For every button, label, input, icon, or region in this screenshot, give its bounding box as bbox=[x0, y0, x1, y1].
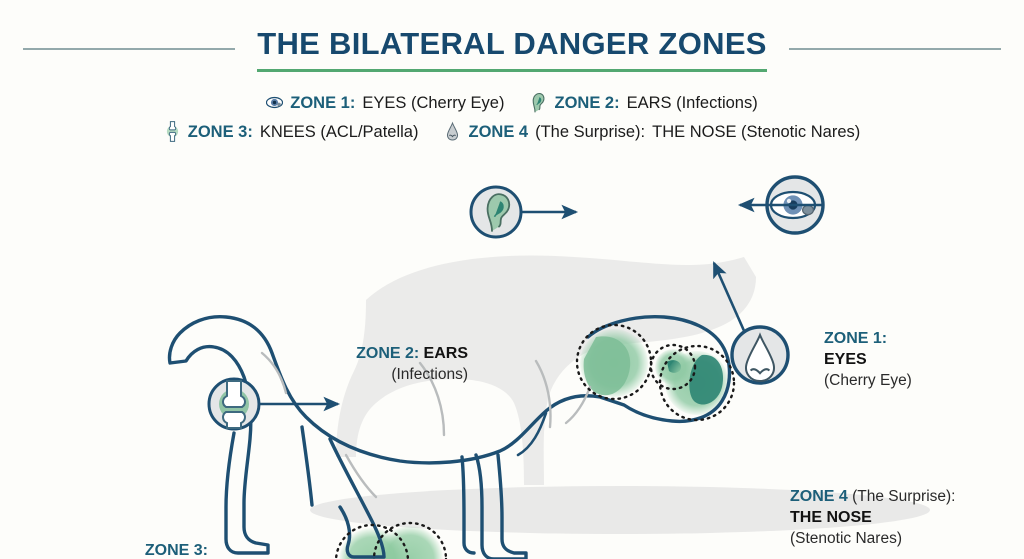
legend-row-1: ZONE 1: EYES (Cherry Eye) ZONE 2: EARS (… bbox=[0, 88, 1024, 117]
callout-ears: ZONE 2: EARS (Infections) bbox=[328, 343, 468, 385]
legend-text-4: THE NOSE (Stenotic Nares) bbox=[652, 122, 860, 142]
legend-zone-label-1: ZONE 1: bbox=[290, 93, 355, 113]
nose-icon bbox=[444, 121, 461, 142]
legend-item-zone-4: ZONE 4 (The Surprise): THE NOSE (Stenoti… bbox=[444, 121, 860, 142]
legend-text-3: KNEES (ACL/Patella) bbox=[260, 122, 419, 142]
ear-icon-badge bbox=[471, 187, 521, 237]
callout-eyes-term: EYES bbox=[824, 349, 1014, 370]
callout-nose-sub: (Stenotic Nares) bbox=[790, 528, 1020, 549]
knee-joint-icon bbox=[164, 121, 181, 142]
legend-zone-label-4: ZONE 4 bbox=[468, 122, 528, 142]
ear-icon bbox=[530, 92, 547, 113]
title-row: THE BILATERAL DANGER ZONES bbox=[0, 26, 1024, 72]
callout-eyes-sub: (Cherry Eye) bbox=[824, 370, 1014, 391]
callout-ears-sub: (Infections) bbox=[328, 364, 468, 385]
title-rule-right bbox=[789, 48, 1001, 50]
legend-item-zone-3: ZONE 3: KNEES (ACL/Patella) bbox=[164, 121, 419, 142]
header: THE BILATERAL DANGER ZONES ZON bbox=[0, 0, 1024, 158]
legend-item-zone-2: ZONE 2: EARS (Infections) bbox=[530, 92, 757, 113]
page-title: THE BILATERAL DANGER ZONES bbox=[257, 26, 767, 62]
legend-row-2: ZONE 3: KNEES (ACL/Patella) ZONE 4 (The … bbox=[0, 117, 1024, 146]
callout-nose: ZONE 4 (The Surprise): THE NOSE (Stenoti… bbox=[790, 486, 1020, 549]
infographic-root: THE BILATERAL DANGER ZONES ZON bbox=[0, 0, 1024, 559]
callout-nose-term: THE NOSE bbox=[790, 507, 1020, 528]
legend-text-4-bold: (The Surprise): bbox=[535, 122, 645, 142]
callout-eyes: ZONE 1: EYES (Cherry Eye) bbox=[824, 328, 1014, 391]
dog-hind-leg-far bbox=[302, 427, 312, 505]
knee-joint-icon-badge bbox=[209, 379, 259, 429]
callout-eyes-zone: ZONE 1: bbox=[824, 328, 1014, 349]
title-wrap: THE BILATERAL DANGER ZONES bbox=[257, 26, 767, 72]
callout-knees-zone: ZONE 3: bbox=[58, 540, 208, 559]
title-underline bbox=[257, 69, 767, 72]
nose-icon-badge bbox=[732, 327, 788, 383]
legend: ZONE 1: EYES (Cherry Eye) ZONE 2: EARS (… bbox=[0, 88, 1024, 146]
legend-zone-label-2: ZONE 2: bbox=[554, 93, 619, 113]
callout-nose-paren: (The Surprise): bbox=[852, 488, 955, 505]
legend-item-zone-1: ZONE 1: EYES (Cherry Eye) bbox=[266, 92, 504, 113]
callout-ears-term: EARS bbox=[424, 345, 468, 362]
callout-ears-zone: ZONE 2: bbox=[356, 345, 419, 362]
eye-icon bbox=[266, 92, 283, 113]
illustration-stage: ZONE 2: EARS (Infections) ZONE 1: EYES (… bbox=[0, 155, 1024, 559]
legend-text-2: EARS (Infections) bbox=[627, 93, 758, 113]
callout-knees: ZONE 3: KNEES (ACL/Patella) bbox=[58, 540, 208, 559]
legend-zone-label-3: ZONE 3: bbox=[188, 122, 253, 142]
callout-nose-zone: ZONE 4 bbox=[790, 488, 848, 505]
title-rule-left bbox=[23, 48, 235, 50]
legend-text-1: EYES (Cherry Eye) bbox=[362, 93, 504, 113]
